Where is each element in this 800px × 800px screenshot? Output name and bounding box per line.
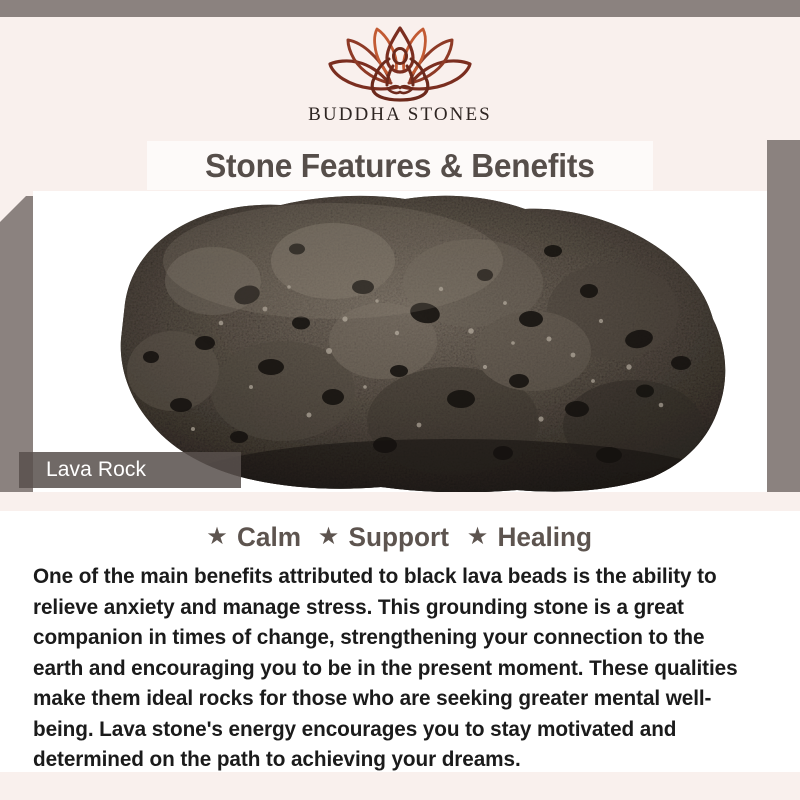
lava-rock-image <box>33 191 767 492</box>
page-title: Stone Features & Benefits <box>205 147 595 185</box>
photo-caption-label: Lava Rock <box>46 458 146 482</box>
benefit-item-support: ★ Support <box>318 522 451 553</box>
photo-caption-bar: Lava Rock <box>19 452 241 488</box>
cream-divider-strip <box>0 492 800 511</box>
benefits-row: ★ Calm ★ Support ★ Healing <box>0 522 800 553</box>
brand-header: BUDDHA STONES <box>0 17 800 140</box>
star-icon: ★ <box>467 525 489 549</box>
frame-band-top <box>0 0 800 17</box>
benefit-item-calm: ★ Calm <box>206 522 302 553</box>
brand-name: BUDDHA STONES <box>308 104 492 126</box>
title-banner: Stone Features & Benefits <box>147 141 653 190</box>
benefit-item-healing: ★ Healing <box>467 522 594 553</box>
infographic-card: BUDDHA STONES Stone Features & Benefits <box>0 0 800 800</box>
lava-rock-photo <box>33 191 767 492</box>
benefit-label-healing: Healing <box>498 522 593 553</box>
body-paragraph: One of the main benefits attributed to b… <box>33 561 759 775</box>
bottom-cream-strip <box>0 772 800 800</box>
star-icon: ★ <box>206 525 228 549</box>
lotus-meditation-logo-icon <box>325 25 475 103</box>
benefit-label-support: Support <box>349 522 449 553</box>
star-icon: ★ <box>318 525 340 549</box>
content-panel: ★ Calm ★ Support ★ Healing One of the ma… <box>0 511 800 772</box>
benefit-label-calm: Calm <box>237 522 301 553</box>
